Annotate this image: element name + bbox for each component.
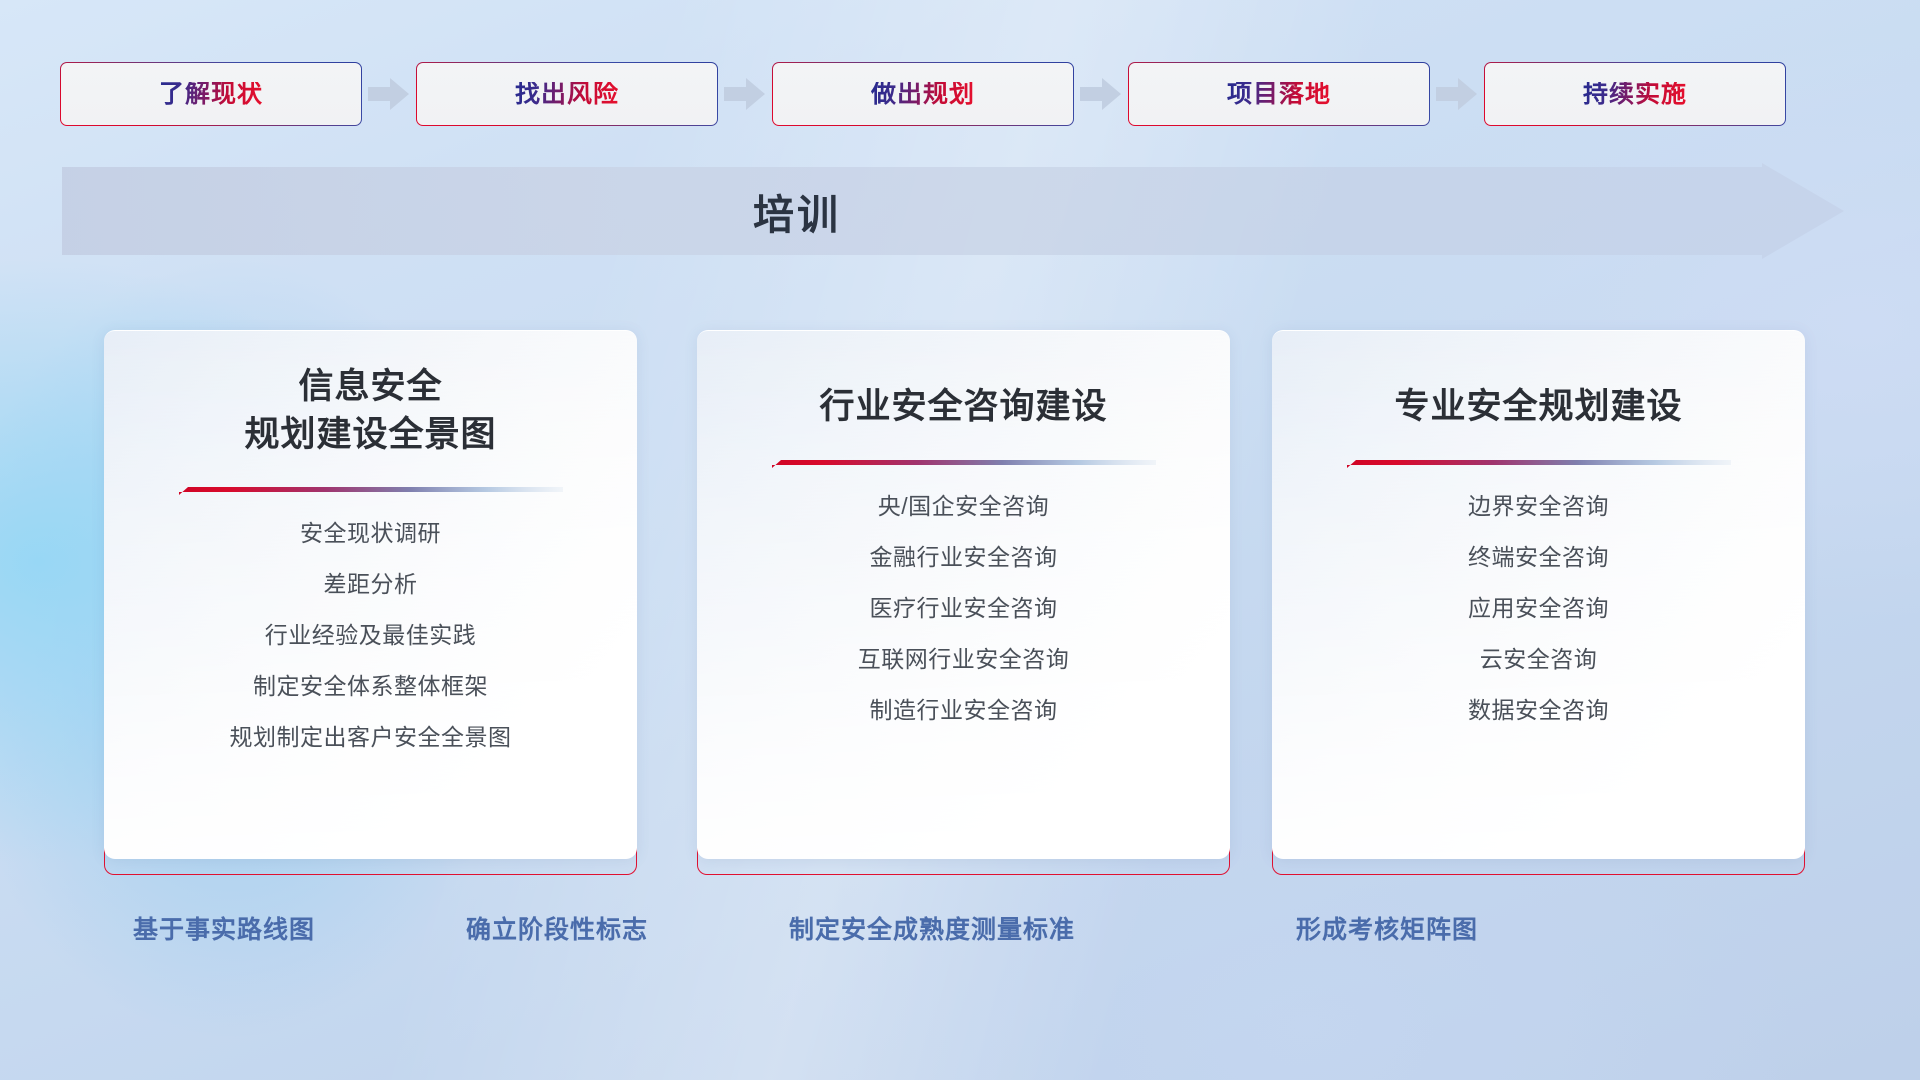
service-card[interactable]: 信息安全 规划建设全景图 安 xyxy=(104,330,637,875)
right-arrow-icon xyxy=(1430,72,1484,116)
service-card[interactable]: 行业安全咨询建设 央/国企安 xyxy=(697,330,1230,875)
card-divider xyxy=(1347,457,1731,471)
card-title: 行业安全咨询建设 xyxy=(819,383,1107,431)
process-step-label: 做出规划 xyxy=(871,82,975,107)
card-list-item: 应用安全咨询 xyxy=(1468,597,1609,620)
card-list-item: 医疗行业安全咨询 xyxy=(870,597,1058,620)
service-card[interactable]: 专业安全规划建设 边界安全咨 xyxy=(1272,330,1805,875)
card-list-item: 制定安全体系整体框架 xyxy=(253,675,488,698)
footer-label: 形成考核矩阵图 xyxy=(1296,918,1478,943)
process-step-5[interactable]: 持续实施 xyxy=(1484,62,1786,126)
card-list-item: 差距分析 xyxy=(324,573,418,596)
card-list-item: 制造行业安全咨询 xyxy=(870,699,1058,722)
card-list-item: 终端安全咨询 xyxy=(1468,546,1609,569)
card-list-item: 央/国企安全咨询 xyxy=(878,495,1049,518)
card-list-item: 数据安全咨询 xyxy=(1468,699,1609,722)
card-surface: 信息安全 规划建设全景图 安 xyxy=(104,330,637,859)
card-list-item: 云安全咨询 xyxy=(1480,648,1598,671)
footer-label: 确立阶段性标志 xyxy=(466,918,648,943)
process-step-1[interactable]: 了解现状 xyxy=(60,62,362,126)
footer-label: 基于事实路线图 xyxy=(133,918,315,943)
card-row: 信息安全 规划建设全景图 安 xyxy=(0,330,1920,890)
card-list-item: 行业经验及最佳实践 xyxy=(265,624,477,647)
card-title: 信息安全 规划建设全景图 xyxy=(244,363,496,458)
training-banner: 培训 xyxy=(62,163,1844,259)
card-list-item: 规划制定出客户安全全景图 xyxy=(230,726,512,749)
card-list-item: 安全现状调研 xyxy=(300,522,441,545)
right-arrow-icon xyxy=(1074,72,1128,116)
process-step-label: 找出风险 xyxy=(515,82,619,107)
card-list-item: 金融行业安全咨询 xyxy=(870,546,1058,569)
card-item-list: 安全现状调研 差距分析 行业经验及最佳实践 制定安全体系整体框架 规划制定出客户… xyxy=(104,522,637,777)
right-arrow-icon xyxy=(718,72,772,116)
card-divider xyxy=(772,457,1156,471)
footer-label: 制定安全成熟度测量标准 xyxy=(789,918,1075,943)
process-step-2[interactable]: 找出风险 xyxy=(416,62,718,126)
card-item-list: 边界安全咨询 终端安全咨询 应用安全咨询 云安全咨询 数据安全咨询 xyxy=(1272,495,1805,750)
card-list-item: 边界安全咨询 xyxy=(1468,495,1609,518)
right-arrow-icon xyxy=(362,72,416,116)
card-surface: 行业安全咨询建设 央/国企安 xyxy=(697,330,1230,859)
banner-title: 培训 xyxy=(62,163,1532,259)
card-title: 专业安全规划建设 xyxy=(1394,383,1682,431)
footer-label-row: 基于事实路线图 确立阶段性标志 制定安全成熟度测量标准 形成考核矩阵图 xyxy=(0,918,1920,968)
card-item-list: 央/国企安全咨询 金融行业安全咨询 医疗行业安全咨询 互联网行业安全咨询 制造行… xyxy=(697,495,1230,750)
process-step-label: 了解现状 xyxy=(159,82,263,107)
process-step-3[interactable]: 做出规划 xyxy=(772,62,1074,126)
process-step-row: 了解现状 找出风险 做出规划 项目落地 持续实施 xyxy=(60,61,1860,127)
card-divider xyxy=(179,484,563,498)
process-step-label: 持续实施 xyxy=(1583,82,1687,107)
process-step-4[interactable]: 项目落地 xyxy=(1128,62,1430,126)
card-list-item: 互联网行业安全咨询 xyxy=(858,648,1070,671)
card-surface: 专业安全规划建设 边界安全咨 xyxy=(1272,330,1805,859)
process-step-label: 项目落地 xyxy=(1227,82,1331,107)
